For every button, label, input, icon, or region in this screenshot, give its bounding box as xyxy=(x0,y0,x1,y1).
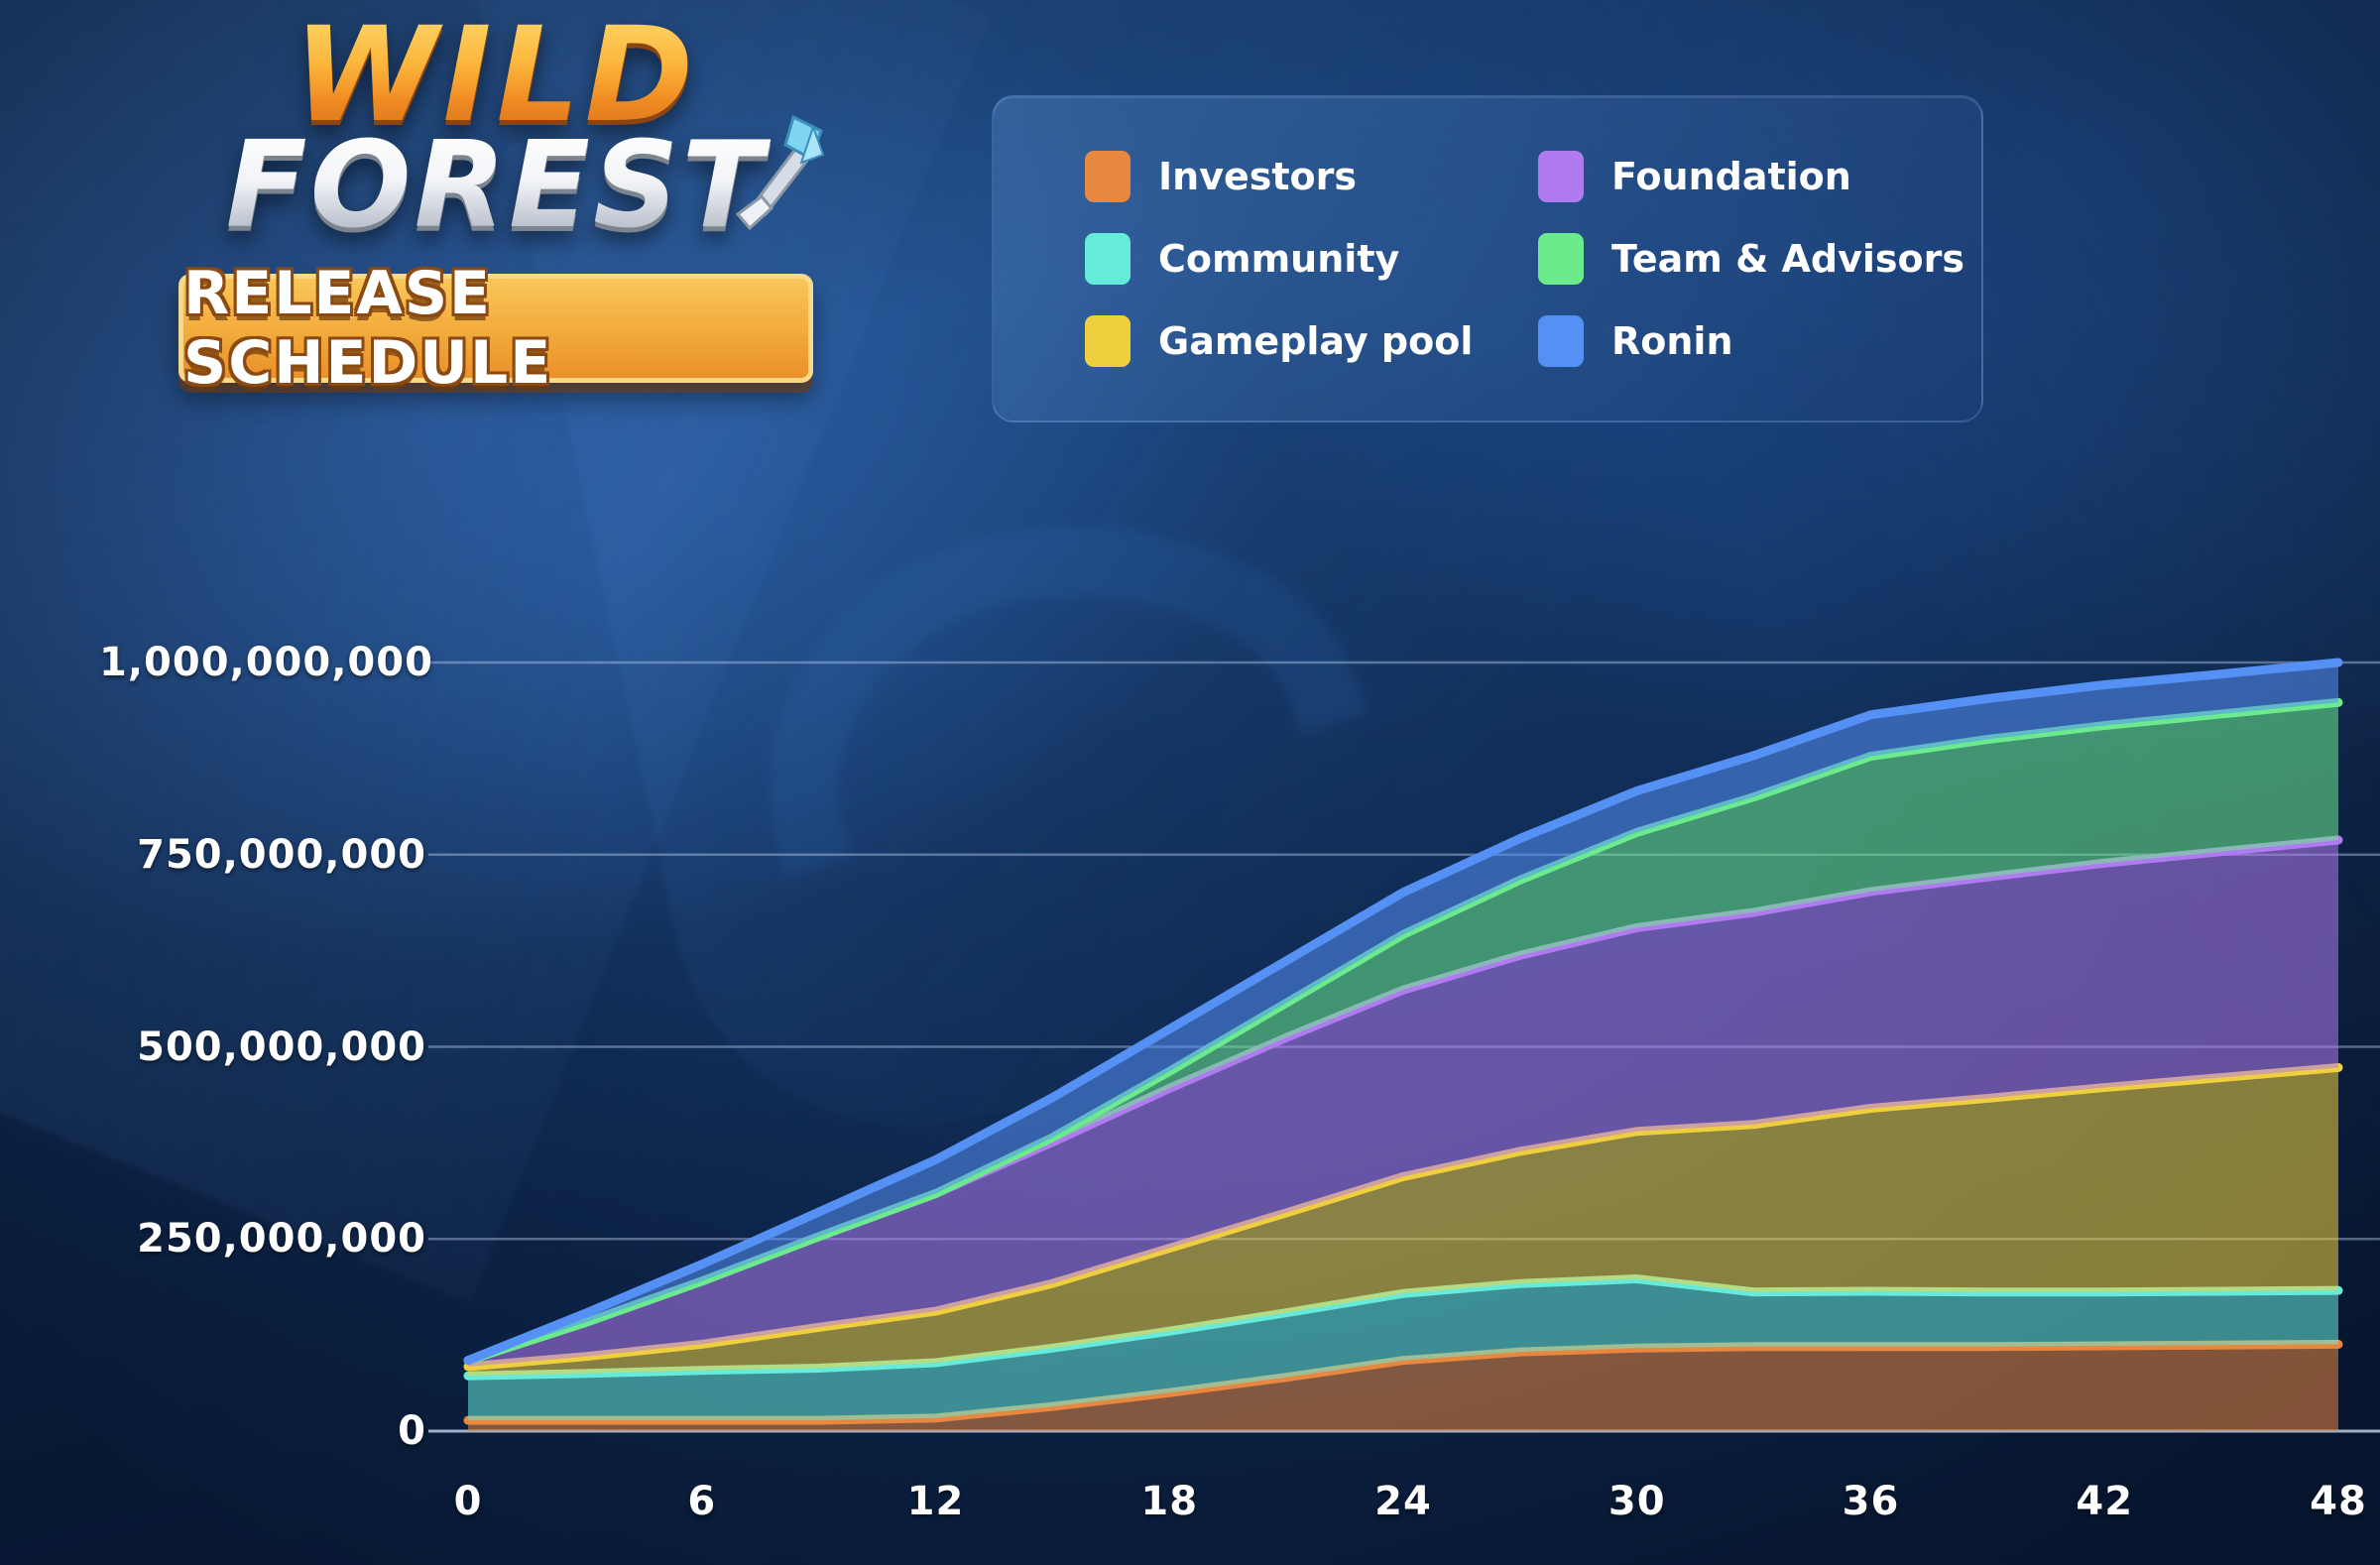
legend-item-investors[interactable]: Investors xyxy=(1085,135,1528,217)
arrow-icon xyxy=(627,97,825,246)
legend-label-ronin: Ronin xyxy=(1611,319,1733,363)
legend-label-foundation: Foundation xyxy=(1611,155,1851,198)
legend-label-investors: Investors xyxy=(1158,155,1357,198)
x-axis-tick-24: 24 xyxy=(1374,1479,1432,1524)
legend-item-team-advisors[interactable]: Team & Advisors xyxy=(1538,217,1981,300)
x-axis-tick-42: 42 xyxy=(2076,1479,2133,1524)
legend-swatch-gameplay-pool xyxy=(1085,315,1130,367)
x-axis-tick-6: 6 xyxy=(687,1479,716,1524)
x-axis-tick-30: 30 xyxy=(1608,1479,1666,1524)
legend-item-foundation[interactable]: Foundation xyxy=(1538,135,1981,217)
legend-label-team-advisors: Team & Advisors xyxy=(1611,237,1964,281)
y-axis-tick-250000000: 250,000,000 xyxy=(99,1216,426,1262)
release-schedule-chart: 0250,000,000500,000,000750,000,0001,000,… xyxy=(0,555,2380,1565)
chart-legend: Investors Foundation Community Team & Ad… xyxy=(992,95,1983,422)
x-axis-tick-18: 18 xyxy=(1140,1479,1198,1524)
x-axis-tick-12: 12 xyxy=(907,1479,965,1524)
legend-swatch-ronin xyxy=(1538,315,1584,367)
legend-swatch-foundation xyxy=(1538,151,1584,202)
legend-swatch-community xyxy=(1085,233,1130,285)
x-axis-tick-48: 48 xyxy=(2310,1479,2367,1524)
y-axis-tick-1000000000: 1,000,000,000 xyxy=(99,640,426,685)
legend-label-community: Community xyxy=(1158,237,1399,281)
legend-label-gameplay-pool: Gameplay pool xyxy=(1158,319,1473,363)
legend-swatch-team-advisors xyxy=(1538,233,1584,285)
y-axis-tick-750000000: 750,000,000 xyxy=(99,832,426,878)
legend-item-gameplay-pool[interactable]: Gameplay pool xyxy=(1085,301,1528,383)
release-schedule-banner: RELEASE SCHEDULE xyxy=(178,274,813,383)
x-axis-tick-0: 0 xyxy=(454,1479,483,1524)
legend-item-community[interactable]: Community xyxy=(1085,217,1528,300)
y-axis-tick-500000000: 500,000,000 xyxy=(99,1024,426,1070)
x-axis-tick-36: 36 xyxy=(1843,1479,1900,1524)
legend-item-ronin[interactable]: Ronin xyxy=(1538,301,1981,383)
y-axis-tick-0: 0 xyxy=(99,1408,426,1454)
brand-logo: WILD FOREST RELEASE SCHEDULE xyxy=(119,10,873,383)
release-schedule-title: RELEASE SCHEDULE xyxy=(183,259,808,398)
legend-swatch-investors xyxy=(1085,151,1130,202)
